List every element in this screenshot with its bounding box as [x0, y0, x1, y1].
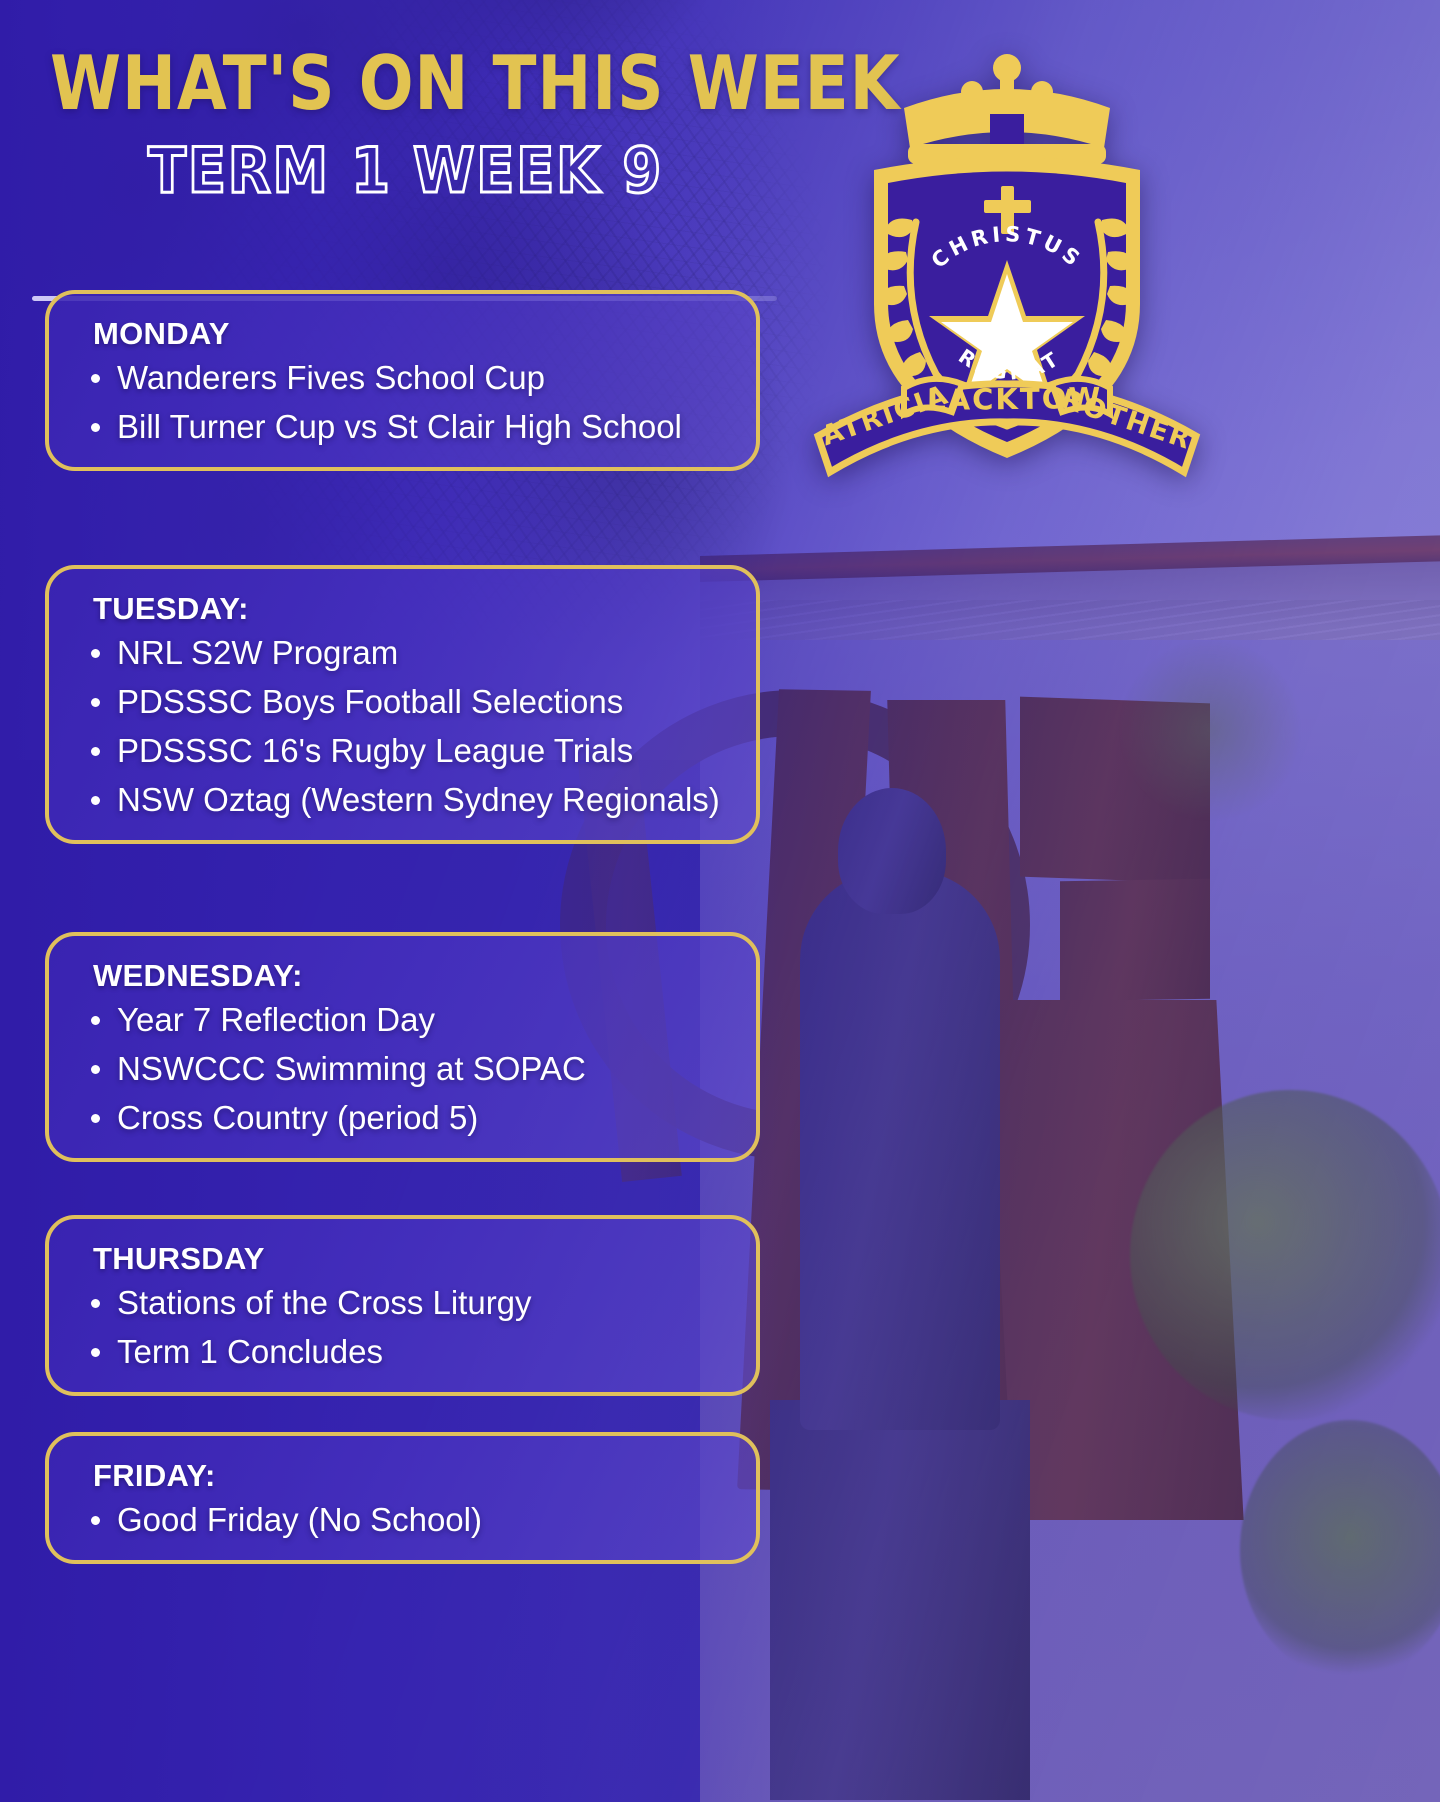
event-item: NSW Oztag (Western Sydney Regionals): [83, 780, 730, 820]
weekly-events-poster: WHAT'S ON THIS WEEK TERM 1 WEEK 9: [0, 0, 1440, 1802]
event-item: NRL S2W Program: [83, 633, 730, 673]
event-item: Term 1 Concludes: [83, 1332, 730, 1372]
event-list-wednesday: Year 7 Reflection Day NSWCCC Swimming at…: [83, 1000, 730, 1138]
event-list-tuesday: NRL S2W Program PDSSSC Boys Football Sel…: [83, 633, 730, 820]
day-card-friday: FRIDAY: Good Friday (No School): [45, 1432, 760, 1564]
event-list-thursday: Stations of the Cross Liturgy Term 1 Con…: [83, 1283, 730, 1372]
event-item: Year 7 Reflection Day: [83, 1000, 730, 1040]
page-subtitle: TERM 1 WEEK 9: [148, 140, 663, 202]
event-list-friday: Good Friday (No School): [83, 1500, 730, 1540]
day-label-friday: FRIDAY:: [93, 1458, 730, 1494]
event-item: Stations of the Cross Liturgy: [83, 1283, 730, 1323]
event-item: Cross Country (period 5): [83, 1098, 730, 1138]
event-item: Wanderers Fives School Cup: [83, 358, 730, 398]
day-label-monday: MONDAY: [93, 316, 730, 352]
event-item: Bill Turner Cup vs St Clair High School: [83, 407, 730, 447]
event-item: Good Friday (No School): [83, 1500, 730, 1540]
event-list-monday: Wanderers Fives School Cup Bill Turner C…: [83, 358, 730, 447]
event-item: PDSSSC 16's Rugby League Trials: [83, 731, 730, 771]
day-card-wednesday: WEDNESDAY: Year 7 Reflection Day NSWCCC …: [45, 932, 760, 1162]
day-label-tuesday: TUESDAY:: [93, 591, 730, 627]
page-title: WHAT'S ON THIS WEEK: [50, 46, 900, 121]
day-label-wednesday: WEDNESDAY:: [93, 958, 730, 994]
event-item: PDSSSC Boys Football Selections: [83, 682, 730, 722]
event-item: NSWCCC Swimming at SOPAC: [83, 1049, 730, 1089]
day-card-thursday: THURSDAY Stations of the Cross Liturgy T…: [45, 1215, 760, 1396]
day-label-thursday: THURSDAY: [93, 1241, 730, 1277]
crown-icon: [904, 54, 1110, 164]
poster-header: WHAT'S ON THIS WEEK TERM 1 WEEK 9: [0, 0, 1440, 300]
school-crest-logo: CHRISTUS REGNAT PATRICIAN BLACKTOWN BROT…: [812, 52, 1202, 522]
day-card-monday: MONDAY Wanderers Fives School Cup Bill T…: [45, 290, 760, 471]
day-card-tuesday: TUESDAY: NRL S2W Program PDSSSC Boys Foo…: [45, 565, 760, 844]
